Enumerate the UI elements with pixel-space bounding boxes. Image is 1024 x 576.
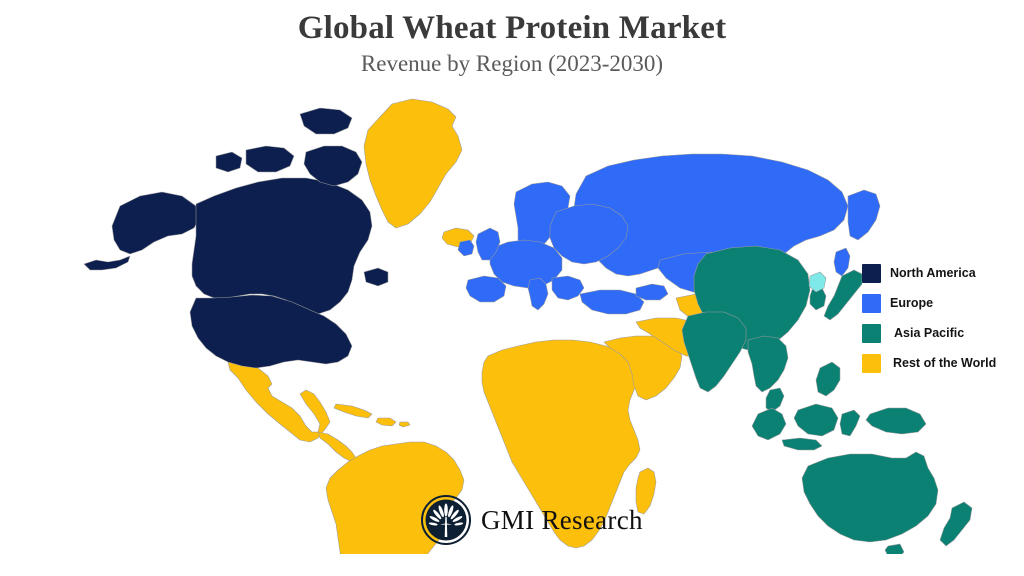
island-sumatra bbox=[752, 408, 786, 440]
country-papua-new-guinea bbox=[866, 408, 926, 434]
island-tasmania bbox=[885, 544, 904, 554]
island-borneo bbox=[794, 404, 838, 436]
country-australia bbox=[802, 452, 938, 542]
country-canada bbox=[192, 178, 372, 314]
island-java bbox=[782, 438, 822, 450]
gmi-sunburst-emblem-icon bbox=[421, 495, 471, 545]
country-hispaniola bbox=[376, 418, 396, 426]
region-central-america bbox=[318, 432, 356, 462]
brand-logo: GMI Research bbox=[421, 495, 643, 545]
region-unclassified bbox=[809, 272, 826, 292]
country-india bbox=[682, 312, 746, 392]
country-cuba bbox=[334, 404, 372, 418]
legend-label-asia-pacific: Asia Pacific bbox=[894, 326, 964, 340]
legend-item-europe[interactable]: Europe bbox=[862, 288, 1022, 318]
country-mexico bbox=[228, 362, 330, 442]
legend-swatch-europe bbox=[862, 294, 881, 313]
country-japan bbox=[824, 270, 862, 320]
legend-label-rest-of-world: Rest of the World bbox=[893, 356, 996, 370]
legend-item-asia-pacific[interactable]: Asia Pacific bbox=[862, 318, 1022, 348]
legend-item-north-america[interactable]: North America bbox=[862, 258, 1022, 288]
legend-swatch-north-america bbox=[862, 264, 881, 283]
region-malay-peninsula bbox=[766, 388, 784, 412]
country-turkey bbox=[580, 290, 644, 314]
country-puerto-rico bbox=[399, 422, 410, 427]
brand-logo-text: GMI Research bbox=[481, 505, 643, 536]
legend-swatch-rest-of-world bbox=[862, 354, 881, 373]
region-iberia bbox=[466, 276, 506, 302]
region-aleutian-islands bbox=[84, 256, 130, 270]
region-caucasus bbox=[636, 284, 668, 300]
map-infographic-page: Global Wheat Protein Market Revenue by R… bbox=[0, 0, 1024, 576]
country-greenland bbox=[364, 99, 462, 228]
legend-label-north-america: North America bbox=[890, 266, 976, 280]
page-title: Global Wheat Protein Market bbox=[0, 9, 1024, 47]
region-southeast-asia bbox=[748, 336, 788, 392]
country-new-zealand bbox=[940, 502, 972, 546]
country-ireland bbox=[458, 240, 474, 256]
island-victoria bbox=[246, 146, 294, 172]
island-sulawesi bbox=[840, 410, 860, 436]
page-subtitle: Revenue by Region (2023-2030) bbox=[0, 50, 1024, 78]
country-italy bbox=[528, 278, 548, 310]
legend-label-europe: Europe bbox=[890, 296, 933, 310]
region-north-america bbox=[84, 108, 388, 368]
island-newfoundland bbox=[364, 268, 388, 286]
legend-item-rest-of-world[interactable]: Rest of the World bbox=[862, 348, 1022, 378]
region-balkans bbox=[552, 276, 584, 300]
country-philippines bbox=[816, 362, 840, 396]
legend: North America Europe Asia Pacific Rest o… bbox=[862, 258, 1022, 378]
island-sakhalin bbox=[834, 248, 850, 276]
country-alaska bbox=[112, 192, 200, 254]
country-north-korea bbox=[809, 272, 826, 292]
region-kamchatka bbox=[848, 190, 880, 240]
legend-swatch-asia-pacific bbox=[862, 324, 881, 343]
island-ellesmere bbox=[300, 108, 352, 134]
island-banks bbox=[216, 152, 242, 172]
header: Global Wheat Protein Market Revenue by R… bbox=[0, 0, 1024, 78]
